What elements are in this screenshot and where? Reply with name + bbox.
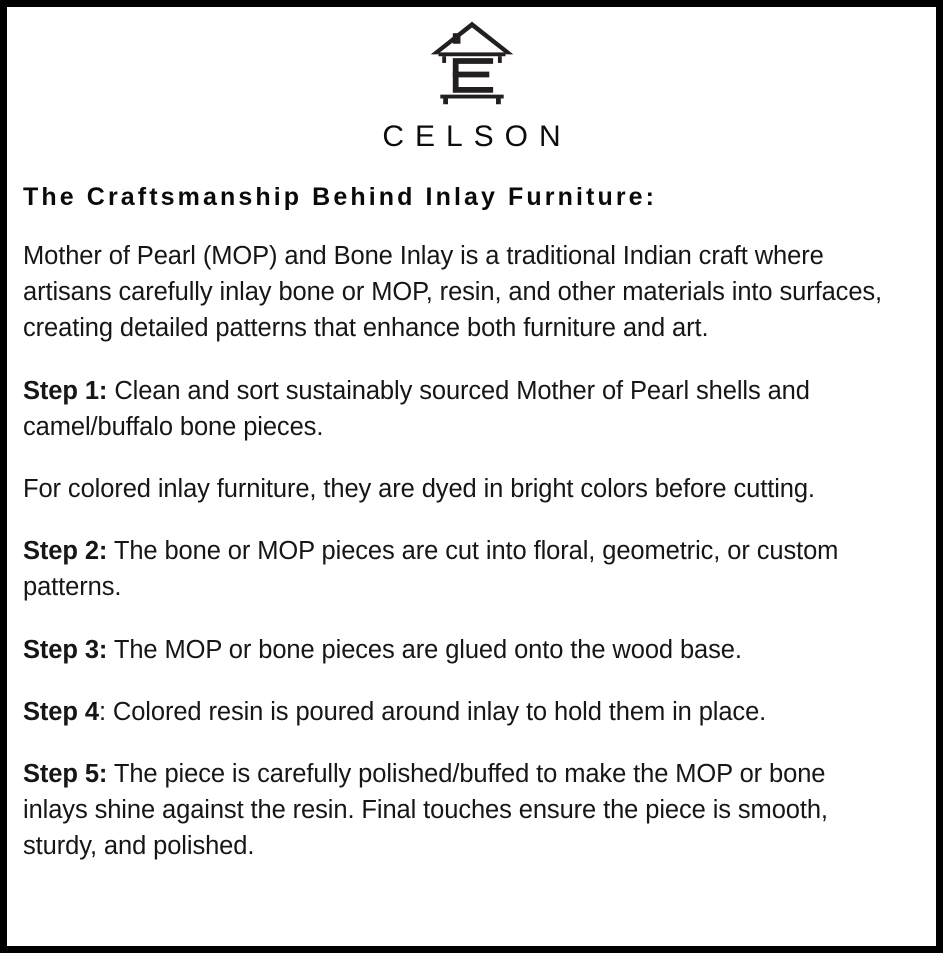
paragraph-lead: Step 4 — [23, 698, 99, 726]
paragraph-step-1: Step 1: Clean and sort sustainably sourc… — [23, 373, 896, 445]
paragraph-text: The bone or MOP pieces are cut into flor… — [23, 537, 838, 601]
paragraph-step-3: Step 3: The MOP or bone pieces are glued… — [23, 632, 896, 668]
paragraph-lead: Step 5: — [23, 760, 107, 788]
paragraph-note-colored: For colored inlay furniture, they are dy… — [23, 471, 896, 507]
paragraph-text: The MOP or bone pieces are glued onto th… — [107, 636, 742, 664]
paragraph-text: : Colored resin is poured around inlay t… — [99, 698, 766, 726]
paragraph-text: Mother of Pearl (MOP) and Bone Inlay is … — [23, 242, 882, 342]
paragraph-lead: Step 1: — [23, 377, 107, 405]
paragraph-intro: Mother of Pearl (MOP) and Bone Inlay is … — [23, 238, 896, 347]
paragraph-step-5: Step 5: The piece is carefully polished/… — [23, 756, 896, 865]
paragraph-lead: Step 2: — [23, 537, 107, 565]
inlay-furniture-poster: CELSON The Craftsmanship Behind Inlay Fu… — [0, 0, 943, 953]
paragraph-step-4: Step 4: Colored resin is poured around i… — [23, 694, 896, 730]
paragraph-step-2: Step 2: The bone or MOP pieces are cut i… — [23, 533, 896, 605]
brand-wordmark: CELSON — [7, 122, 936, 152]
page-title: The Craftsmanship Behind Inlay Furniture… — [23, 182, 896, 212]
paragraph-lead: Step 3: — [23, 636, 107, 664]
brand-block: CELSON — [7, 7, 936, 152]
paragraph-text: The piece is carefully polished/buffed t… — [23, 760, 828, 860]
content-body: The Craftsmanship Behind Inlay Furniture… — [7, 182, 936, 865]
paragraph-text: For colored inlay furniture, they are dy… — [23, 475, 815, 503]
paragraph-text: Clean and sort sustainably sourced Mothe… — [23, 377, 810, 441]
house-temple-monogram-icon — [424, 14, 520, 110]
